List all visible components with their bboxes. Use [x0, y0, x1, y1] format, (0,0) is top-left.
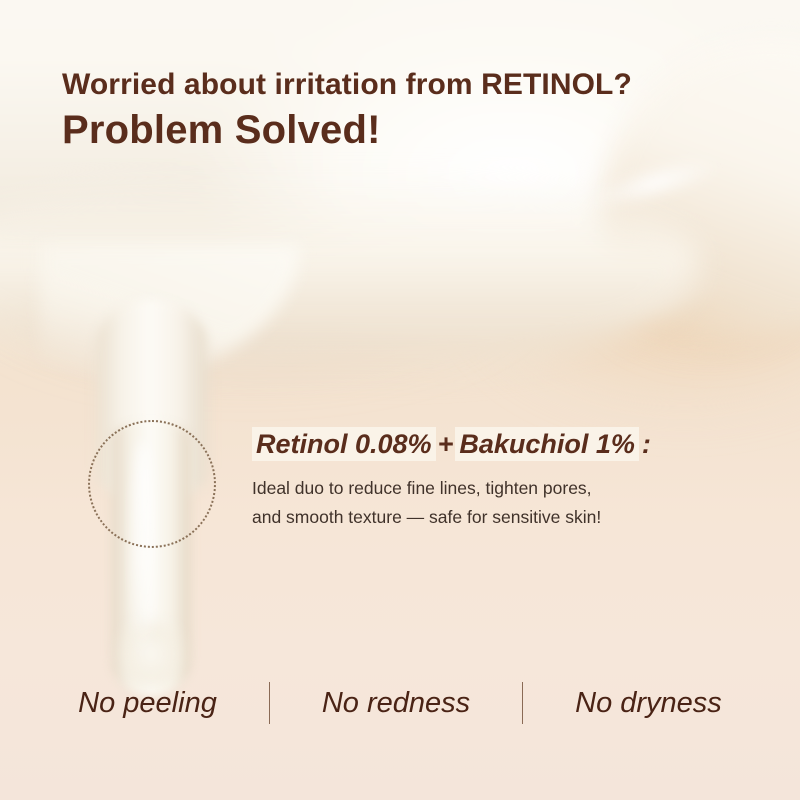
retinol-percentage-label: Retinol 0.08% — [252, 427, 436, 461]
dotted-circle-icon — [88, 420, 216, 548]
colon-symbol: : — [639, 429, 651, 459]
headline-question: Worried about irritation from RETINOL? — [62, 68, 742, 102]
bakuchiol-percentage-label: Bakuchiol 1% — [455, 427, 639, 461]
benefit-no-redness: No redness — [314, 687, 478, 720]
ingredient-description: Ideal duo to reduce fine lines, tighten … — [252, 474, 752, 531]
ingredient-description-line-1: Ideal duo to reduce fine lines, tighten … — [252, 474, 752, 502]
benefit-no-peeling: No peeling — [70, 687, 225, 720]
benefit-divider — [269, 682, 270, 724]
ingredient-description-line-2: and smooth texture — safe for sensitive … — [252, 503, 752, 531]
plus-symbol: + — [436, 429, 456, 459]
product-promo-poster: Worried about irritation from RETINOL? P… — [0, 0, 800, 800]
headline-block: Worried about irritation from RETINOL? P… — [62, 68, 742, 153]
benefit-no-dryness: No dryness — [567, 687, 730, 720]
headline-answer: Problem Solved! — [62, 108, 742, 154]
benefits-row: No peeling No redness No dryness — [0, 682, 800, 724]
ingredient-callout: Retinol 0.08%+Bakuchiol 1%: Ideal duo to… — [252, 428, 752, 531]
ingredient-formula-line: Retinol 0.08%+Bakuchiol 1%: — [252, 428, 752, 460]
benefit-divider — [522, 682, 523, 724]
